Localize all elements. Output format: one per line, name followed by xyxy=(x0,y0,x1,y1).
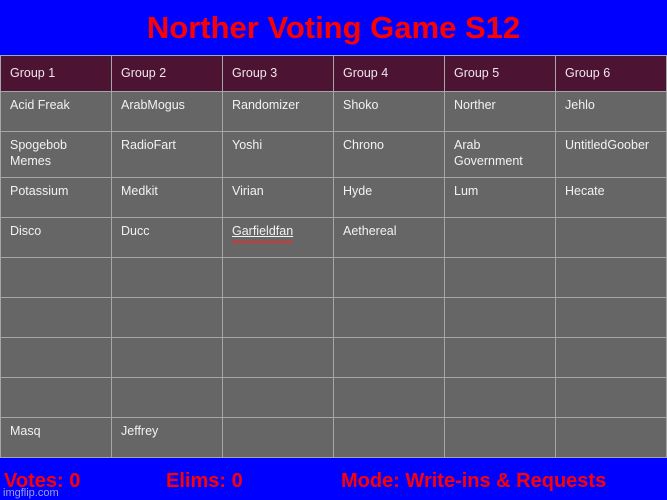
table-row: DiscoDuccGarfieldfanAethereal xyxy=(1,218,667,258)
cell-r2-c2[interactable]: RadioFart xyxy=(112,132,223,178)
cell-r4-c1[interactable]: Disco xyxy=(1,218,112,258)
cell-label: Masq xyxy=(10,424,41,438)
cell-label: ArabMogus xyxy=(121,98,185,112)
cell-r2-c3[interactable]: Yoshi xyxy=(223,132,334,178)
cell-r6-c1[interactable] xyxy=(1,298,112,338)
cell-r3-c3[interactable]: Virian xyxy=(223,178,334,218)
cell-r6-c5[interactable] xyxy=(445,298,556,338)
imgflip-watermark: imgflip.com xyxy=(3,488,59,499)
table-row xyxy=(1,258,667,298)
table-header-row: Group 1Group 2Group 3Group 4Group 5Group… xyxy=(1,56,667,92)
cell-r4-c4[interactable]: Aethereal xyxy=(334,218,445,258)
table-row: MasqJeffrey xyxy=(1,418,667,458)
table-row xyxy=(1,298,667,338)
cell-r4-c5[interactable] xyxy=(445,218,556,258)
cell-label: Spogebob Memes xyxy=(10,138,67,168)
cell-label: Ducc xyxy=(121,224,149,238)
status-footer: Votes: 0 Elims: 0 Mode: Write-ins & Requ… xyxy=(0,460,667,500)
cell-r1-c3[interactable]: Randomizer xyxy=(223,92,334,132)
cell-label: Shoko xyxy=(343,98,378,112)
cell-r6-c6[interactable] xyxy=(556,298,667,338)
cell-r9-c6[interactable] xyxy=(556,418,667,458)
cell-r9-c4[interactable] xyxy=(334,418,445,458)
cell-label: RadioFart xyxy=(121,138,176,152)
cell-label: Yoshi xyxy=(232,138,262,152)
cell-r8-c5[interactable] xyxy=(445,378,556,418)
column-header-group-3[interactable]: Group 3 xyxy=(223,56,334,92)
cell-r2-c5[interactable]: Arab Government xyxy=(445,132,556,178)
cell-label: Hecate xyxy=(565,184,605,198)
cell-label: Potassium xyxy=(10,184,68,198)
cell-r3-c4[interactable]: Hyde xyxy=(334,178,445,218)
cell-label: Acid Freak xyxy=(10,98,70,112)
cell-label: Virian xyxy=(232,184,264,198)
cell-r1-c5[interactable]: Norther xyxy=(445,92,556,132)
cell-label: Chrono xyxy=(343,138,384,152)
cell-r5-c4[interactable] xyxy=(334,258,445,298)
cell-r9-c3[interactable] xyxy=(223,418,334,458)
column-header-group-6[interactable]: Group 6 xyxy=(556,56,667,92)
cell-label: Medkit xyxy=(121,184,158,198)
cell-r3-c2[interactable]: Medkit xyxy=(112,178,223,218)
cell-label: Aethereal xyxy=(343,224,397,238)
cell-r2-c6[interactable]: UntitledGoober xyxy=(556,132,667,178)
cell-r4-c6[interactable] xyxy=(556,218,667,258)
cell-label: Randomizer xyxy=(232,98,299,112)
cell-r6-c3[interactable] xyxy=(223,298,334,338)
table-header: Group 1Group 2Group 3Group 4Group 5Group… xyxy=(1,56,667,92)
cell-r5-c6[interactable] xyxy=(556,258,667,298)
cell-r7-c3[interactable] xyxy=(223,338,334,378)
cell-r9-c5[interactable] xyxy=(445,418,556,458)
cell-r4-c2[interactable]: Ducc xyxy=(112,218,223,258)
cell-r1-c1[interactable]: Acid Freak xyxy=(1,92,112,132)
cell-r3-c6[interactable]: Hecate xyxy=(556,178,667,218)
cell-label: Garfieldfan xyxy=(232,224,293,241)
cell-r7-c2[interactable] xyxy=(112,338,223,378)
cell-label: Lum xyxy=(454,184,478,198)
cell-r8-c6[interactable] xyxy=(556,378,667,418)
cell-r5-c5[interactable] xyxy=(445,258,556,298)
cell-r7-c4[interactable] xyxy=(334,338,445,378)
column-header-group-2[interactable]: Group 2 xyxy=(112,56,223,92)
cell-r2-c1[interactable]: Spogebob Memes xyxy=(1,132,112,178)
cell-r7-c5[interactable] xyxy=(445,338,556,378)
mode-label: Mode: Write-ins & Requests xyxy=(341,471,606,491)
cell-label: Hyde xyxy=(343,184,372,198)
table-row: Spogebob MemesRadioFartYoshiChronoArab G… xyxy=(1,132,667,178)
cell-r6-c4[interactable] xyxy=(334,298,445,338)
cell-r8-c4[interactable] xyxy=(334,378,445,418)
groups-table: Group 1Group 2Group 3Group 4Group 5Group… xyxy=(0,55,667,458)
cell-r3-c1[interactable]: Potassium xyxy=(1,178,112,218)
cell-label: Jeffrey xyxy=(121,424,158,438)
cell-r7-c1[interactable] xyxy=(1,338,112,378)
cell-r5-c1[interactable] xyxy=(1,258,112,298)
cell-r1-c2[interactable]: ArabMogus xyxy=(112,92,223,132)
table-row xyxy=(1,338,667,378)
page-title: Norther Voting Game S12 xyxy=(147,12,520,43)
voting-game-board: Norther Voting Game S12 Group 1Group 2Gr… xyxy=(0,0,667,500)
table-row: Acid FreakArabMogusRandomizerShokoNorthe… xyxy=(1,92,667,132)
table-row xyxy=(1,378,667,418)
column-header-group-4[interactable]: Group 4 xyxy=(334,56,445,92)
groups-table-container: Group 1Group 2Group 3Group 4Group 5Group… xyxy=(0,55,667,460)
cell-label: Jehlo xyxy=(565,98,595,112)
cell-r5-c2[interactable] xyxy=(112,258,223,298)
cell-label: Norther xyxy=(454,98,496,112)
cell-r8-c1[interactable] xyxy=(1,378,112,418)
cell-r1-c6[interactable]: Jehlo xyxy=(556,92,667,132)
cell-r8-c3[interactable] xyxy=(223,378,334,418)
elims-counter: Elims: 0 xyxy=(166,471,243,491)
table-body: Acid FreakArabMogusRandomizerShokoNorthe… xyxy=(1,92,667,458)
cell-r4-c3[interactable]: Garfieldfan xyxy=(223,218,334,258)
cell-r1-c4[interactable]: Shoko xyxy=(334,92,445,132)
cell-r9-c2[interactable]: Jeffrey xyxy=(112,418,223,458)
table-row: PotassiumMedkitVirianHydeLumHecate xyxy=(1,178,667,218)
cell-r2-c4[interactable]: Chrono xyxy=(334,132,445,178)
cell-label: Disco xyxy=(10,224,41,238)
cell-r5-c3[interactable] xyxy=(223,258,334,298)
cell-r7-c6[interactable] xyxy=(556,338,667,378)
cell-label: UntitledGoober xyxy=(565,138,649,152)
cell-label: Arab Government xyxy=(454,138,523,168)
title-banner: Norther Voting Game S12 xyxy=(0,0,667,55)
cell-r8-c2[interactable] xyxy=(112,378,223,418)
column-header-group-1[interactable]: Group 1 xyxy=(1,56,112,92)
column-header-group-5[interactable]: Group 5 xyxy=(445,56,556,92)
cell-r9-c1[interactable]: Masq xyxy=(1,418,112,458)
cell-r3-c5[interactable]: Lum xyxy=(445,178,556,218)
cell-r6-c2[interactable] xyxy=(112,298,223,338)
